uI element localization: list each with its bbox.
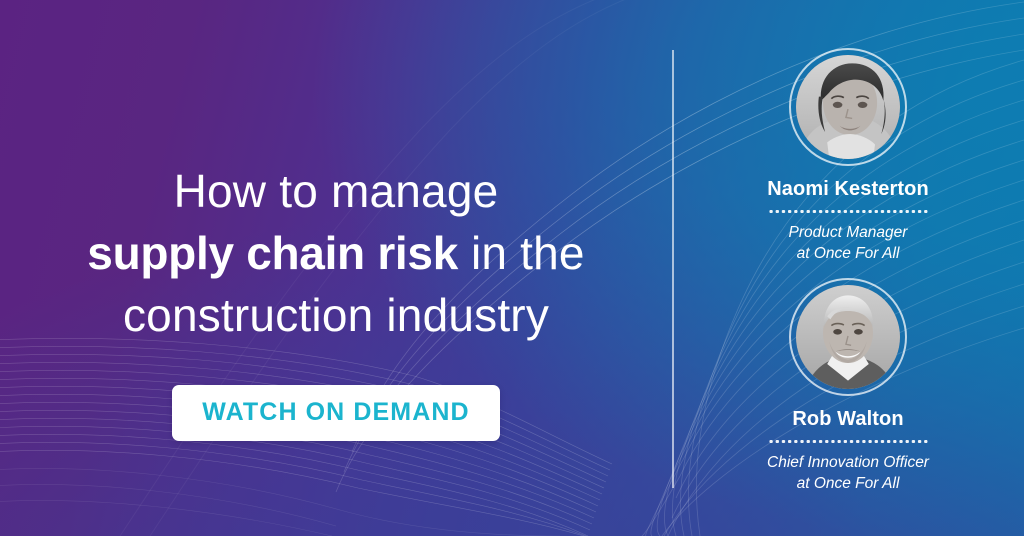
dotted-divider — [768, 440, 928, 443]
speaker-org: at Once For All — [672, 243, 1024, 264]
rob-walton-portrait — [796, 285, 900, 389]
headline-line-2-rest: in the — [458, 227, 585, 279]
avatar — [789, 278, 907, 396]
speaker-org: at Once For All — [672, 473, 1024, 494]
speaker-role: Chief Innovation Officer — [672, 452, 1024, 473]
speaker-role: Product Manager — [672, 222, 1024, 243]
webinar-promo-banner: How to manage supply chain risk in the c… — [0, 0, 1024, 536]
avatar — [789, 48, 907, 166]
speaker-name: Naomi Kesterton — [672, 178, 1024, 201]
headline: How to manage supply chain risk in the c… — [0, 160, 672, 346]
speaker-name: Rob Walton — [672, 408, 1024, 431]
speaker-card-naomi-kesterton: Naomi Kesterton Product Manager at Once … — [672, 48, 1024, 264]
cta-container: WATCH ON DEMAND — [0, 385, 672, 441]
speaker-card-rob-walton: Rob Walton Chief Innovation Officer at O… — [672, 278, 1024, 494]
headline-emphasis: supply chain risk — [87, 227, 458, 279]
headline-line-1: How to manage — [0, 160, 672, 222]
dotted-divider — [768, 210, 928, 213]
headline-line-2: supply chain risk in the — [0, 222, 672, 284]
headline-line-3: construction industry — [0, 284, 672, 346]
naomi-kesterton-portrait — [796, 55, 900, 159]
watch-on-demand-button[interactable]: WATCH ON DEMAND — [172, 385, 499, 441]
